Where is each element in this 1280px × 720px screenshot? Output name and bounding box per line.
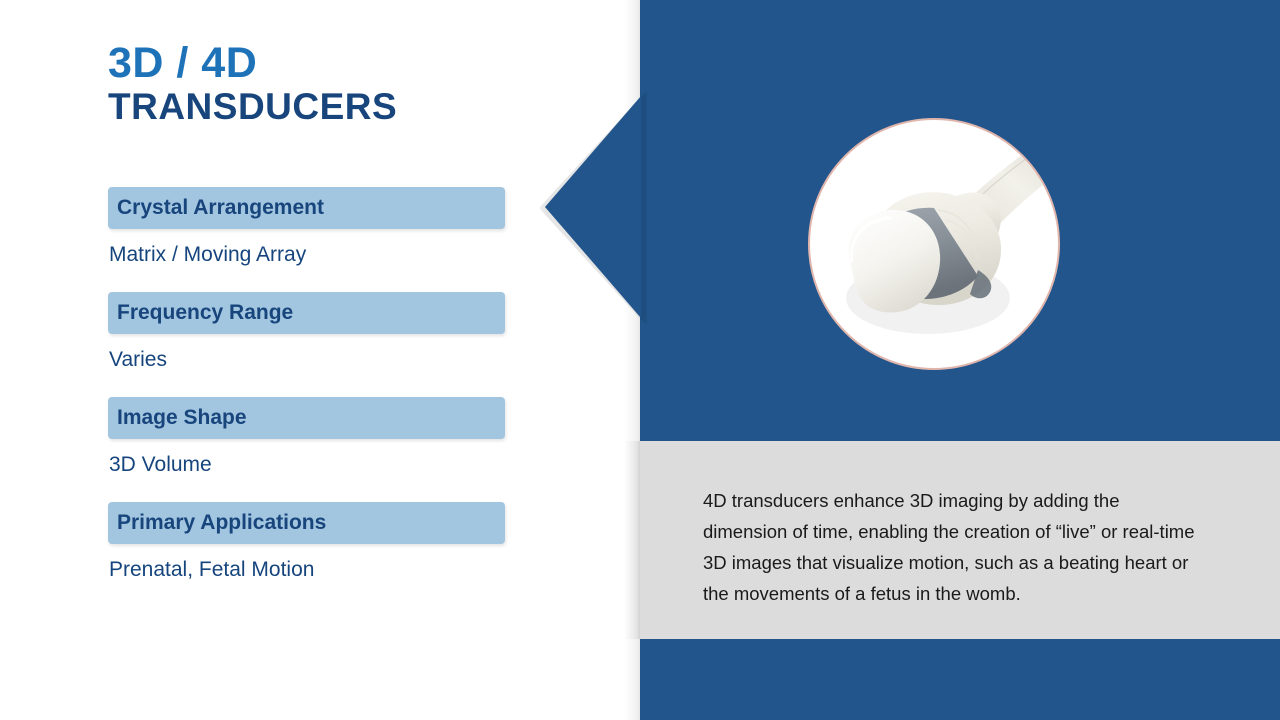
spec-label-text: Primary Applications xyxy=(117,511,326,535)
spec-label-text: Image Shape xyxy=(117,406,247,430)
spec-label-text: Frequency Range xyxy=(117,301,293,325)
transducer-photo-circle xyxy=(808,118,1060,370)
description-text: 4D transducers enhance 3D imaging by add… xyxy=(703,485,1203,609)
spec-value-frequency-range: Varies xyxy=(108,348,528,372)
slide-canvas: 4D transducers enhance 3D imaging by add… xyxy=(0,0,1280,720)
page-title: 3D / 4D TRANSDUCERS xyxy=(108,42,578,128)
left-content-column: 3D / 4D TRANSDUCERS Crystal Arrangement … xyxy=(0,0,620,720)
spec-label-text: Crystal Arrangement xyxy=(117,196,324,220)
spec-label-bar-primary-applications: Primary Applications xyxy=(108,502,505,544)
spec-label-bar-crystal-arrangement: Crystal Arrangement xyxy=(108,187,505,229)
page-title-line-1: 3D / 4D xyxy=(108,42,578,86)
spec-row-crystal-arrangement: Crystal Arrangement Matrix / Moving Arra… xyxy=(108,187,528,267)
spec-row-image-shape: Image Shape 3D Volume xyxy=(108,397,528,477)
spec-label-bar-frequency-range: Frequency Range xyxy=(108,292,505,334)
spec-value-crystal-arrangement: Matrix / Moving Array xyxy=(108,243,528,267)
spec-row-frequency-range: Frequency Range Varies xyxy=(108,292,528,372)
page-title-line-2: TRANSDUCERS xyxy=(108,86,578,129)
spec-list: Crystal Arrangement Matrix / Moving Arra… xyxy=(108,187,528,582)
ultrasound-probe-icon xyxy=(810,120,1058,368)
spec-row-primary-applications: Primary Applications Prenatal, Fetal Mot… xyxy=(108,502,528,582)
spec-value-primary-applications: Prenatal, Fetal Motion xyxy=(108,558,528,582)
spec-label-bar-image-shape: Image Shape xyxy=(108,397,505,439)
spec-value-image-shape: 3D Volume xyxy=(108,453,528,477)
